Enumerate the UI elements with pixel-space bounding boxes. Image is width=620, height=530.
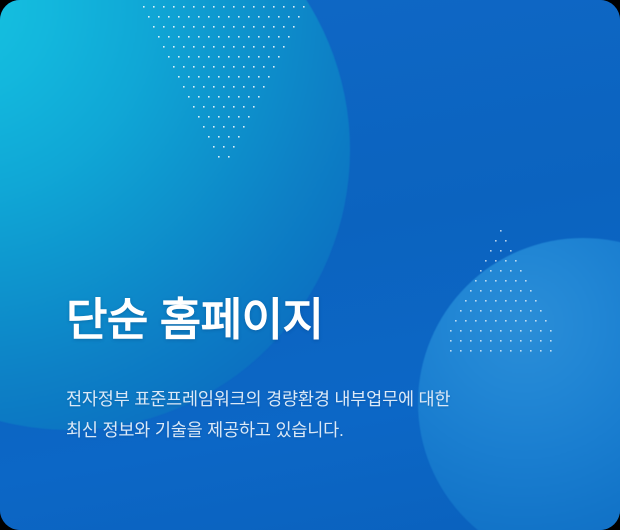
- hero-banner: 단순 홈페이지 전자정부 표준프레임워크의 경량환경 내부업무에 대한 최신 정…: [0, 0, 620, 530]
- hero-copy: 단순 홈페이지 전자정부 표준프레임워크의 경량환경 내부업무에 대한 최신 정…: [66, 292, 566, 446]
- hero-subtitle: 전자정부 표준프레임워크의 경량환경 내부업무에 대한 최신 정보와 기술을 제…: [66, 384, 566, 446]
- hero-subtitle-line-1: 전자정부 표준프레임워크의 경량환경 내부업무에 대한: [66, 384, 566, 415]
- page-title: 단순 홈페이지: [66, 292, 566, 348]
- hero-subtitle-line-2: 최신 정보와 기술을 제공하고 있습니다.: [66, 415, 566, 446]
